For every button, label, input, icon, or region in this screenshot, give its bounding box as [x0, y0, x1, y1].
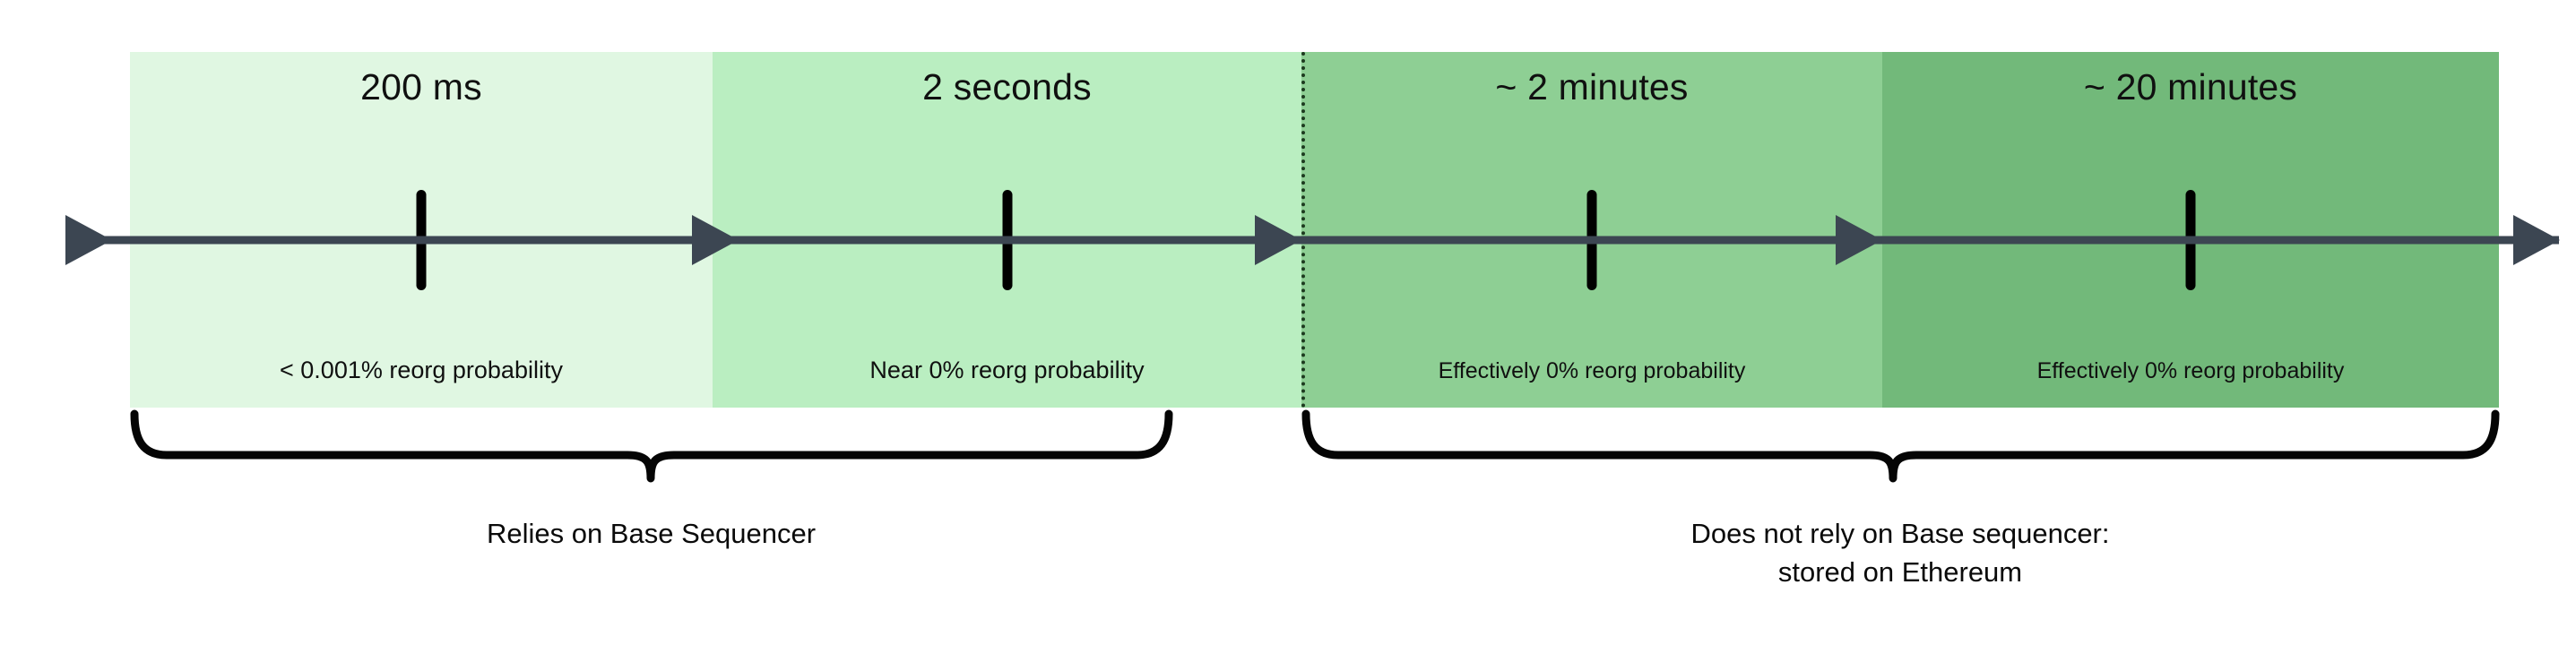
- segment-tick-mark: [1002, 190, 1012, 290]
- segment-tick-mark: [417, 190, 427, 290]
- axis-arrowhead-end: [2513, 215, 2560, 265]
- segment-subtitle: Near 0% reorg probability: [713, 357, 1301, 384]
- segment-title: 2 seconds: [713, 66, 1301, 108]
- segment-title: ~ 2 minutes: [1301, 66, 1882, 108]
- segment-subtitle: < 0.001% reorg probability: [130, 357, 713, 384]
- segment-tick-mark: [1587, 190, 1597, 290]
- timeline-band: 200 ms < 0.001% reorg probability 2 seco…: [130, 52, 2499, 408]
- timeline-segment-2-minutes[interactable]: ~ 2 minutes Effectively 0% reorg probabi…: [1301, 52, 1882, 408]
- diagram-canvas: 200 ms < 0.001% reorg probability 2 seco…: [0, 0, 2576, 662]
- timeline-segment-200ms[interactable]: 200 ms < 0.001% reorg probability: [130, 52, 713, 408]
- segment-title: 200 ms: [130, 66, 713, 108]
- segment-tick-mark: [2186, 190, 2196, 290]
- segment-subtitle: Effectively 0% reorg probability: [1301, 358, 1882, 384]
- brace-left-caption: Relies on Base Sequencer: [130, 515, 1172, 554]
- brace-right-caption: Does not rely on Base sequencer: stored …: [1301, 515, 2499, 592]
- timeline-segment-2-seconds[interactable]: 2 seconds Near 0% reorg probability: [713, 52, 1301, 408]
- brace-right-shape: [1306, 414, 2495, 478]
- brace-left-shape: [134, 414, 1169, 478]
- sequencer-trust-boundary-divider: [1301, 52, 1305, 408]
- timeline-segment-20-minutes[interactable]: ~ 20 minutes Effectively 0% reorg probab…: [1882, 52, 2499, 408]
- segment-subtitle: Effectively 0% reorg probability: [1882, 358, 2499, 384]
- segment-title: ~ 20 minutes: [1882, 66, 2499, 108]
- axis-arrowhead-start: [65, 215, 112, 265]
